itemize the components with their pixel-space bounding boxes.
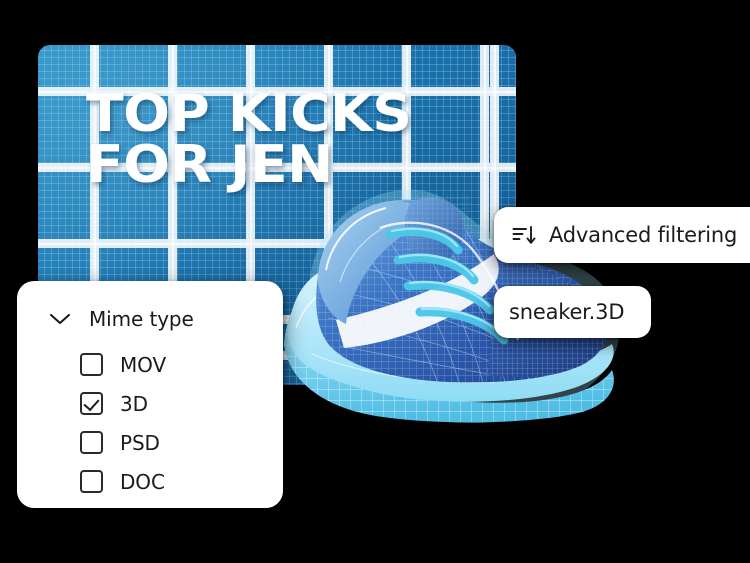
banner-heading: TOP KICKS FOR JEN: [86, 89, 510, 191]
mime-option-label: MOV: [120, 353, 166, 377]
checkbox-psd[interactable]: [80, 431, 103, 454]
advanced-filtering-pill[interactable]: Advanced filtering: [494, 207, 750, 263]
mime-option-3d[interactable]: 3D: [80, 384, 283, 423]
checkbox-3d[interactable]: [80, 392, 103, 415]
mime-option-mov[interactable]: MOV: [80, 345, 283, 384]
mime-option-label: 3D: [120, 392, 148, 416]
mime-option-psd[interactable]: PSD: [80, 423, 283, 462]
filename-label: sneaker.3D: [509, 300, 624, 324]
mime-type-title: Mime type: [89, 307, 194, 331]
promo-composition: TOP KICKS FOR JEN: [0, 0, 750, 563]
mime-type-header[interactable]: Mime type: [17, 281, 283, 331]
mime-type-option-list: MOV 3D PSD DOC: [17, 345, 283, 501]
chevron-down-icon: [49, 312, 71, 326]
sort-descending-icon: [512, 224, 536, 246]
checkbox-mov[interactable]: [80, 353, 103, 376]
mime-option-doc[interactable]: DOC: [80, 462, 283, 501]
checkbox-doc[interactable]: [80, 470, 103, 493]
filename-pill[interactable]: sneaker.3D: [494, 286, 651, 338]
mime-type-filter-panel: Mime type MOV 3D PSD DOC: [17, 281, 283, 508]
mime-option-label: DOC: [120, 470, 165, 494]
mime-option-label: PSD: [120, 431, 160, 455]
advanced-filtering-label: Advanced filtering: [549, 223, 737, 247]
